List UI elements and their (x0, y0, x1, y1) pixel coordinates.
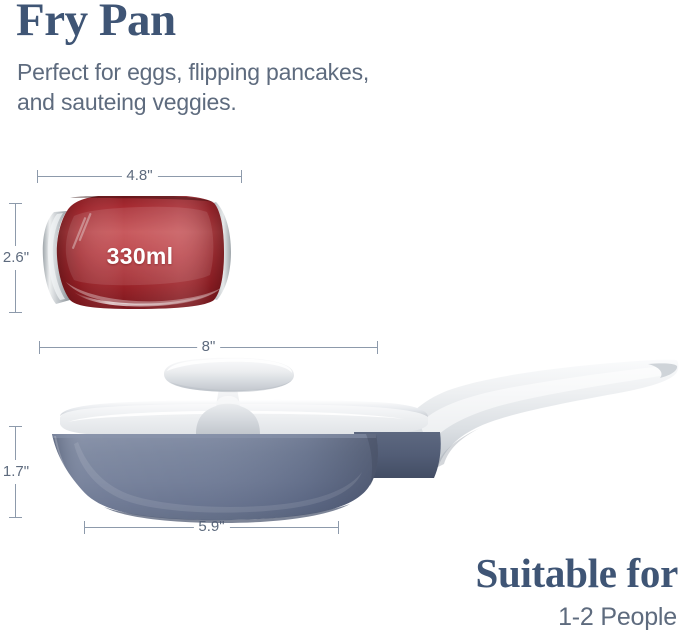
can-height-dimension: 2.6" (9, 203, 23, 313)
dimension-cap-left (37, 170, 38, 183)
dimension-cap-bottom (9, 312, 22, 313)
suitable-for-capacity: 1-2 People (558, 603, 677, 632)
can-width-dimension: 4.8" (37, 170, 242, 184)
dimension-cap-top (9, 203, 22, 204)
page-title: Fry Pan (16, 0, 176, 47)
pan-body (52, 434, 378, 523)
fry-pan-illustration (24, 352, 679, 527)
dimension-cap-right (241, 170, 242, 183)
pan-height-dimension: 1.7" (9, 426, 23, 518)
soda-can-svg (40, 196, 240, 312)
can-body (57, 196, 224, 309)
dimension-cap-top (9, 426, 22, 427)
soda-can-illustration: 330ml (40, 196, 240, 312)
suitable-for-heading: Suitable for (475, 549, 678, 597)
dimension-cap-bottom (9, 517, 22, 518)
page-subtitle: Perfect for eggs, flipping pancakes, and… (17, 57, 369, 117)
can-width-label: 4.8" (121, 166, 157, 185)
can-height-label: 2.6" (3, 246, 29, 270)
fry-pan-svg (24, 352, 679, 527)
